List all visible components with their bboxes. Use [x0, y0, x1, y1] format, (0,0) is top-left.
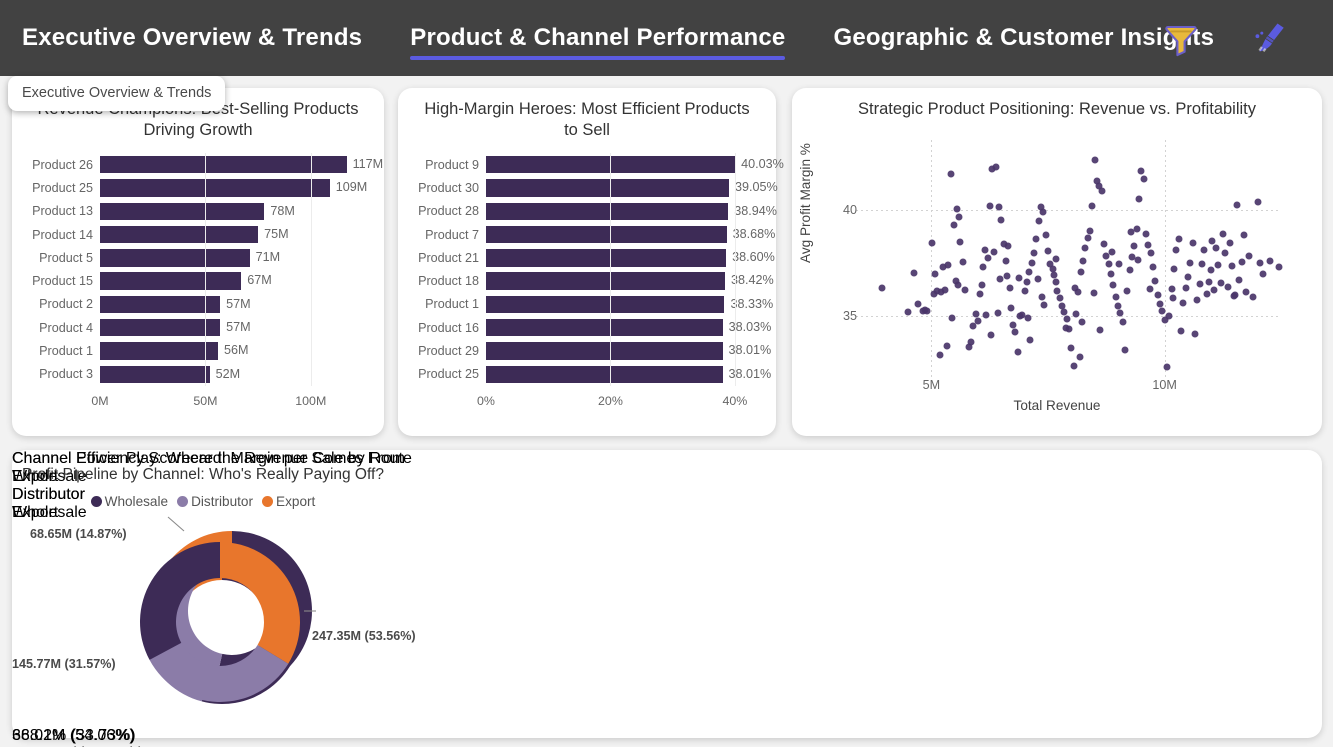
- scatter-point[interactable]: [1196, 281, 1203, 288]
- scatter-point[interactable]: [1027, 336, 1034, 343]
- bar-fill[interactable]: [486, 342, 723, 359]
- scatter-point[interactable]: [1040, 208, 1047, 215]
- revenue-champions-bar-chart: Product 26117MProduct 25109MProduct 1378…: [12, 141, 384, 412]
- bar-x-axis: 0M50M100M: [100, 386, 374, 412]
- x-axis-tick-label: 100M: [295, 394, 326, 408]
- bar-category-label: Product 9: [408, 158, 486, 172]
- scatter-point[interactable]: [985, 254, 992, 261]
- x-axis-tick-label: 10M: [1152, 378, 1177, 392]
- bar-value-label: 57M: [226, 296, 251, 313]
- revenue-champions-card: Revenue Champions: Best-Selling Products…: [12, 88, 384, 436]
- scatter-point[interactable]: [944, 262, 951, 269]
- grid-line: [205, 153, 206, 386]
- scatter-point[interactable]: [1241, 232, 1248, 239]
- bar-row[interactable]: Product 2138.60%: [408, 246, 766, 269]
- scatter-point[interactable]: [997, 276, 1004, 283]
- bar-row[interactable]: Product 25109M: [22, 176, 374, 199]
- scatter-point[interactable]: [978, 282, 985, 289]
- scatter-point[interactable]: [956, 214, 963, 221]
- bar-category-label: Product 1: [22, 344, 100, 358]
- bar-track: 38.01%: [486, 339, 766, 362]
- bar-track: 38.01%: [486, 363, 766, 386]
- scatter-point[interactable]: [1089, 203, 1096, 210]
- scatter-point[interactable]: [1098, 188, 1105, 195]
- legend-label: Export: [12, 468, 58, 485]
- scatter-point[interactable]: [1097, 327, 1104, 334]
- scatter-point[interactable]: [1178, 328, 1185, 335]
- scatter-point[interactable]: [1213, 245, 1220, 252]
- scatter-point[interactable]: [1033, 236, 1040, 243]
- scatter-point[interactable]: [1115, 261, 1122, 268]
- bar-value-label: 67M: [247, 272, 272, 289]
- scatter-point[interactable]: [1192, 330, 1199, 337]
- bar-fill[interactable]: [100, 342, 218, 359]
- scatter-point[interactable]: [1266, 257, 1273, 264]
- bar-value-label: 109M: [336, 179, 368, 196]
- tab-tooltip: Executive Overview & Trends: [8, 76, 225, 111]
- scatter-point[interactable]: [1257, 260, 1264, 267]
- scatter-point[interactable]: [1185, 273, 1192, 280]
- scatter-point[interactable]: [936, 351, 943, 358]
- bar-fill[interactable]: [100, 272, 241, 289]
- scatter-point[interactable]: [977, 290, 984, 297]
- scatter-point[interactable]: [1194, 297, 1201, 304]
- bar-track: 40.03%: [486, 153, 766, 176]
- scatter-point[interactable]: [1006, 284, 1013, 291]
- scatter-point[interactable]: [1173, 247, 1180, 254]
- legend-item-distributor[interactable]: Distributor: [12, 486, 412, 504]
- scatter-point[interactable]: [1005, 242, 1012, 249]
- scatter-point[interactable]: [1217, 280, 1224, 287]
- scatter-point[interactable]: [1238, 258, 1245, 265]
- bar-row[interactable]: Product 571M: [22, 246, 374, 269]
- scatter-point[interactable]: [1187, 260, 1194, 267]
- bar-row[interactable]: Product 156M: [22, 339, 374, 362]
- bar-value-label: 57M: [226, 319, 251, 336]
- scatter-point[interactable]: [1119, 318, 1126, 325]
- scatter-point[interactable]: [1041, 301, 1048, 308]
- scatter-point[interactable]: [1168, 285, 1175, 292]
- strategic-positioning-card: Strategic Product Positioning: Revenue v…: [792, 88, 1322, 436]
- scatter-point[interactable]: [1199, 261, 1206, 268]
- scatter-point[interactable]: [1124, 287, 1131, 294]
- scatter-point[interactable]: [1087, 227, 1094, 234]
- scatter-point[interactable]: [1243, 288, 1250, 295]
- clear-filters-broom-icon[interactable]: [1243, 12, 1295, 64]
- bar-fill[interactable]: [486, 203, 728, 220]
- scatter-point[interactable]: [1255, 199, 1262, 206]
- bar-track: 39.05%: [486, 176, 766, 199]
- bar-row[interactable]: Product 2938.01%: [408, 339, 766, 362]
- scatter-point[interactable]: [1070, 362, 1077, 369]
- scatter-plot-area: [866, 154, 1286, 372]
- scatter-point[interactable]: [1031, 250, 1038, 257]
- scatter-point[interactable]: [1082, 245, 1089, 252]
- revenue-vs-profitability-scatter-chart: Avg Profit Margin % Total Revenue 35405M…: [792, 120, 1322, 420]
- scatter-point[interactable]: [1090, 289, 1097, 296]
- bar-fill[interactable]: [486, 179, 729, 196]
- scatter-point[interactable]: [942, 286, 949, 293]
- bar-fill[interactable]: [486, 226, 727, 243]
- scatter-point[interactable]: [943, 343, 950, 350]
- donut-data-label: 38.01% (33.73%): [12, 727, 412, 745]
- bar-fill[interactable]: [100, 203, 264, 220]
- scatter-point[interactable]: [960, 258, 967, 265]
- scatter-point[interactable]: [992, 163, 999, 170]
- scatter-point[interactable]: [1084, 235, 1091, 242]
- scatter-point[interactable]: [1220, 231, 1227, 238]
- scatter-point[interactable]: [930, 290, 937, 297]
- scatter-point[interactable]: [1063, 315, 1070, 322]
- scatter-point[interactable]: [1021, 287, 1028, 294]
- scatter-point[interactable]: [998, 217, 1005, 224]
- bar-track: 38.03%: [486, 316, 766, 339]
- bar-value-label: 71M: [256, 249, 281, 266]
- x-axis-tick-label: 40%: [722, 394, 747, 408]
- bar-row[interactable]: Product 738.68%: [408, 223, 766, 246]
- tab-executive-overview[interactable]: Executive Overview & Trends: [22, 0, 388, 76]
- scatter-point[interactable]: [1003, 272, 1010, 279]
- bar-row[interactable]: Product 352M: [22, 363, 374, 386]
- high-margin-heroes-card: High-Margin Heroes: Most Efficient Produ…: [398, 88, 776, 436]
- bar-value-label: 38.68%: [733, 226, 776, 243]
- legend-label: Distributor: [12, 486, 85, 503]
- bar-row[interactable]: Product 1638.03%: [408, 316, 766, 339]
- x-axis-tick-label: 0%: [477, 394, 495, 408]
- scatter-point[interactable]: [1053, 279, 1060, 286]
- scatter-point[interactable]: [994, 310, 1001, 317]
- scatter-point[interactable]: [1077, 268, 1084, 275]
- bar-category-label: Product 29: [408, 344, 486, 358]
- scatter-point[interactable]: [1076, 354, 1083, 361]
- scatter-point[interactable]: [1026, 268, 1033, 275]
- scatter-point[interactable]: [1068, 345, 1075, 352]
- scatter-point[interactable]: [1152, 278, 1159, 285]
- high-margin-heroes-bar-chart: Product 940.03%Product 3039.05%Product 2…: [398, 141, 776, 412]
- scatter-point[interactable]: [1072, 284, 1079, 291]
- tab-underline: [22, 56, 362, 60]
- scatter-point[interactable]: [1230, 293, 1237, 300]
- bar-category-label: Product 2: [22, 297, 100, 311]
- channel-efficiency-panel: Channel Efficiency Scorecard: Margin per…: [12, 450, 412, 738]
- legend-item-wholesale[interactable]: Wholesale: [12, 504, 412, 522]
- bar-row[interactable]: Product 138.33%: [408, 293, 766, 316]
- bar-category-label: Product 5: [22, 251, 100, 265]
- bar-category-label: Product 7: [408, 228, 486, 242]
- bar-track: 38.94%: [486, 200, 766, 223]
- scatter-point[interactable]: [923, 308, 930, 315]
- scatter-point[interactable]: [1109, 249, 1116, 256]
- donut-legend: ExportDistributorWholesale: [12, 468, 412, 522]
- bar-track: 75M: [100, 223, 374, 246]
- bar-track: 38.42%: [486, 269, 766, 292]
- bar-row[interactable]: Product 1838.42%: [408, 269, 766, 292]
- bar-row[interactable]: Product 1378M: [22, 200, 374, 223]
- scatter-point[interactable]: [1091, 157, 1098, 164]
- bar-row[interactable]: Product 2538.01%: [408, 363, 766, 386]
- scatter-point[interactable]: [1101, 240, 1108, 247]
- chart-title: Strategic Product Positioning: Revenue v…: [792, 88, 1322, 120]
- grid-line: [610, 153, 611, 386]
- scatter-point[interactable]: [1003, 257, 1010, 264]
- bar-track: 78M: [100, 200, 374, 223]
- x-axis-tick-label: 5M: [923, 378, 941, 392]
- scatter-point[interactable]: [1045, 248, 1052, 255]
- scatter-point[interactable]: [1201, 247, 1208, 254]
- bar-category-label: Product 25: [22, 181, 100, 195]
- bar-category-label: Product 4: [22, 321, 100, 335]
- donut-slice-export[interactable]: [220, 542, 300, 664]
- scatter-point[interactable]: [1138, 168, 1145, 175]
- scatter-point[interactable]: [1215, 262, 1222, 269]
- scatter-point[interactable]: [1034, 276, 1041, 283]
- scatter-point[interactable]: [1154, 292, 1161, 299]
- scatter-point[interactable]: [1134, 256, 1141, 263]
- bar-track: 57M: [100, 316, 374, 339]
- scatter-point[interactable]: [979, 264, 986, 271]
- scatter-point[interactable]: [1227, 239, 1234, 246]
- bar-row[interactable]: Product 3039.05%: [408, 176, 766, 199]
- bar-track: 117M: [100, 153, 374, 176]
- scatter-point[interactable]: [1122, 346, 1129, 353]
- bar-track: 38.33%: [486, 293, 766, 316]
- scatter-point[interactable]: [1150, 264, 1157, 271]
- bar-row[interactable]: Product 457M: [22, 316, 374, 339]
- x-axis-tick-label: 20%: [598, 394, 623, 408]
- tab-label: Product & Channel Performance: [410, 24, 785, 52]
- scatter-point[interactable]: [1146, 285, 1153, 292]
- bar-value-label: 117M: [353, 156, 384, 173]
- scatter-point[interactable]: [1157, 300, 1164, 307]
- scatter-point[interactable]: [1136, 195, 1143, 202]
- scatter-point[interactable]: [1062, 325, 1069, 332]
- scatter-point[interactable]: [1170, 295, 1177, 302]
- scatter-point[interactable]: [957, 238, 964, 245]
- donut-slice-distributor[interactable]: [150, 643, 289, 702]
- scatter-point[interactable]: [1210, 286, 1217, 293]
- scatter-point[interactable]: [1234, 202, 1241, 209]
- x-axis-tick-label: 50M: [193, 394, 217, 408]
- bar-value-label: 38.60%: [732, 249, 775, 266]
- scatter-point[interactable]: [1126, 267, 1133, 274]
- scatter-point[interactable]: [1012, 329, 1019, 336]
- scatter-point[interactable]: [1208, 267, 1215, 274]
- scatter-point[interactable]: [982, 247, 989, 254]
- bar-value-label: 52M: [216, 366, 241, 383]
- dashboard-page: Executive Overview & Trends Product & Ch…: [0, 0, 1333, 747]
- scatter-point[interactable]: [975, 317, 982, 324]
- scatter-point[interactable]: [1171, 266, 1178, 273]
- scatter-point[interactable]: [1203, 290, 1210, 297]
- bar-fill[interactable]: [486, 296, 724, 313]
- scatter-point[interactable]: [1117, 310, 1124, 317]
- scatter-point[interactable]: [1115, 302, 1122, 309]
- bar-fill[interactable]: [100, 319, 220, 336]
- grid-line: [1165, 140, 1166, 380]
- scatter-point[interactable]: [1073, 311, 1080, 318]
- top-navigation-bar: Executive Overview & Trends Product & Ch…: [0, 0, 1333, 76]
- scatter-point[interactable]: [1131, 242, 1138, 249]
- scatter-point[interactable]: [1143, 231, 1150, 238]
- scatter-point[interactable]: [1159, 308, 1166, 315]
- donut-svg: [12, 522, 412, 722]
- bar-fill[interactable]: [486, 249, 726, 266]
- bar-fill[interactable]: [486, 366, 723, 383]
- scatter-point[interactable]: [1054, 287, 1061, 294]
- scatter-point[interactable]: [1028, 260, 1035, 267]
- tab-label: Executive Overview & Trends: [22, 24, 362, 52]
- scatter-point[interactable]: [1014, 348, 1021, 355]
- scatter-point[interactable]: [1250, 294, 1257, 301]
- bar-fill[interactable]: [486, 272, 725, 289]
- scatter-point[interactable]: [1050, 271, 1057, 278]
- scatter-point[interactable]: [1182, 284, 1189, 291]
- scatter-point[interactable]: [879, 284, 886, 291]
- bar-row[interactable]: Product 2838.94%: [408, 200, 766, 223]
- scatter-point[interactable]: [1078, 318, 1085, 325]
- donut-slice-wholesale[interactable]: [140, 542, 220, 660]
- bar-track: 52M: [100, 363, 374, 386]
- scatter-point[interactable]: [1147, 250, 1154, 257]
- scatter-point[interactable]: [1039, 294, 1046, 301]
- bar-category-label: Product 18: [408, 274, 486, 288]
- channel-efficiency-donut-chart: 38.01% (33.73%)37.65% (33.42%)37.02% (32…: [12, 522, 412, 747]
- legend-label: Wholesale: [12, 504, 87, 521]
- bar-row[interactable]: Product 1567M: [22, 269, 374, 292]
- scatter-x-axis-label: Total Revenue: [792, 398, 1322, 413]
- scatter-point[interactable]: [1108, 270, 1115, 277]
- scatter-point[interactable]: [947, 171, 954, 178]
- scatter-y-axis-label: Avg Profit Margin %: [798, 143, 813, 263]
- scatter-point[interactable]: [983, 312, 990, 319]
- channel-donuts-card: Channel Power Play: Where the Revenue Co…: [12, 450, 1322, 738]
- scatter-point[interactable]: [1145, 241, 1152, 248]
- bar-category-label: Product 30: [408, 181, 486, 195]
- bar-value-label: 78M: [270, 203, 295, 220]
- scatter-point[interactable]: [1229, 263, 1236, 270]
- scatter-point[interactable]: [1105, 261, 1112, 268]
- scatter-point[interactable]: [1016, 274, 1023, 281]
- y-axis-tick-label: 35: [843, 309, 866, 323]
- scatter-point[interactable]: [915, 300, 922, 307]
- scatter-point[interactable]: [991, 249, 998, 256]
- bar-fill[interactable]: [100, 179, 330, 196]
- scatter-point[interactable]: [1053, 255, 1060, 262]
- bar-fill[interactable]: [486, 319, 723, 336]
- scatter-point[interactable]: [968, 339, 975, 346]
- scatter-point[interactable]: [1007, 304, 1014, 311]
- bar-category-label: Product 15: [22, 274, 100, 288]
- scatter-point[interactable]: [1080, 257, 1087, 264]
- scatter-point[interactable]: [949, 314, 956, 321]
- scatter-point[interactable]: [1175, 236, 1182, 243]
- bar-fill[interactable]: [100, 366, 210, 383]
- bar-track: 57M: [100, 293, 374, 316]
- bar-category-label: Product 14: [22, 228, 100, 242]
- bar-category-label: Product 16: [408, 321, 486, 335]
- bar-category-label: Product 28: [408, 204, 486, 218]
- scatter-point[interactable]: [1276, 264, 1283, 271]
- filter-funnel-icon[interactable]: [1155, 12, 1207, 64]
- scatter-point[interactable]: [905, 309, 912, 316]
- bar-category-label: Product 13: [22, 204, 100, 218]
- scatter-point[interactable]: [1112, 294, 1119, 301]
- scatter-point[interactable]: [1206, 279, 1213, 286]
- tab-product-channel-performance[interactable]: Product & Channel Performance: [410, 0, 811, 76]
- bar-row[interactable]: Product 26117M: [22, 153, 374, 176]
- scatter-point[interactable]: [1128, 229, 1135, 236]
- scatter-point[interactable]: [1110, 282, 1117, 289]
- scatter-point[interactable]: [910, 269, 917, 276]
- scatter-point[interactable]: [1035, 218, 1042, 225]
- bar-fill[interactable]: [100, 249, 250, 266]
- scatter-point[interactable]: [986, 203, 993, 210]
- grid-line: [311, 153, 312, 386]
- tab-underline-active: [410, 56, 785, 60]
- scatter-point[interactable]: [950, 221, 957, 228]
- scatter-point[interactable]: [1236, 277, 1243, 284]
- grid-line: [931, 140, 932, 380]
- scatter-point[interactable]: [1056, 295, 1063, 302]
- scatter-point[interactable]: [1209, 237, 1216, 244]
- scatter-point[interactable]: [1245, 252, 1252, 259]
- bar-fill[interactable]: [100, 156, 347, 173]
- donut-leader-line: [160, 530, 178, 544]
- bar-row[interactable]: Product 940.03%: [408, 153, 766, 176]
- scatter-point[interactable]: [1189, 239, 1196, 246]
- scatter-point[interactable]: [1224, 283, 1231, 290]
- grid-line: [856, 210, 1280, 211]
- grid-line: [735, 153, 736, 386]
- scatter-point[interactable]: [932, 270, 939, 277]
- scatter-point[interactable]: [1259, 270, 1266, 277]
- scatter-point[interactable]: [1025, 314, 1032, 321]
- bar-track: 67M: [100, 269, 374, 292]
- bar-category-label: Product 26: [22, 158, 100, 172]
- bar-fill[interactable]: [100, 226, 258, 243]
- bar-x-axis: 0%20%40%: [486, 386, 766, 412]
- bar-row[interactable]: Product 257M: [22, 293, 374, 316]
- donut-leader-line: [256, 530, 268, 542]
- bar-track: 109M: [100, 176, 374, 199]
- scatter-point[interactable]: [996, 204, 1003, 211]
- scatter-point[interactable]: [1180, 299, 1187, 306]
- scatter-point[interactable]: [1166, 313, 1173, 320]
- scatter-point[interactable]: [1010, 321, 1017, 328]
- nav-icon-group: [1155, 0, 1295, 76]
- scatter-point[interactable]: [961, 286, 968, 293]
- scatter-point[interactable]: [1140, 175, 1147, 182]
- bar-track: 38.68%: [486, 223, 766, 246]
- bar-track: 38.60%: [486, 246, 766, 269]
- scatter-point[interactable]: [1042, 232, 1049, 239]
- nav-tab-list: Executive Overview & Trends Product & Ch…: [0, 0, 1262, 76]
- bar-row[interactable]: Product 1475M: [22, 223, 374, 246]
- bar-value-label: 75M: [264, 226, 289, 243]
- x-axis-tick-label: 0M: [91, 394, 108, 408]
- scatter-point[interactable]: [1164, 363, 1171, 370]
- scatter-point[interactable]: [955, 282, 962, 289]
- bar-fill[interactable]: [100, 296, 220, 313]
- scatter-point[interactable]: [1222, 250, 1229, 257]
- scatter-point[interactable]: [1024, 279, 1031, 286]
- scatter-point[interactable]: [954, 205, 961, 212]
- scatter-point[interactable]: [929, 239, 936, 246]
- bar-value-label: 56M: [224, 342, 249, 359]
- bar-category-label: Product 25: [408, 367, 486, 381]
- legend-item-export[interactable]: Export: [12, 468, 412, 486]
- scatter-point[interactable]: [988, 331, 995, 338]
